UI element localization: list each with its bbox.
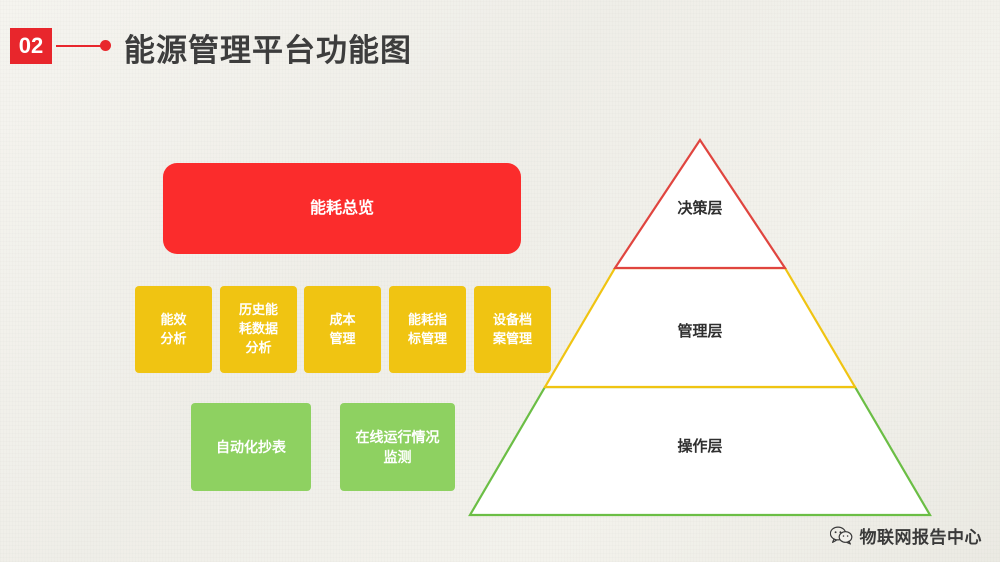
block-label: 成本管理 [329, 311, 355, 349]
pyramid-label-decision: 决策层 [460, 197, 940, 218]
pyramid-diagram: 决策层 管理层 操作层 [460, 130, 940, 525]
pyramid-label-operation: 操作层 [460, 435, 940, 456]
header-accent-dot [100, 40, 111, 51]
watermark: 物联网报告中心 [830, 523, 983, 548]
block-historical-energy-data-analysis[interactable]: 历史能耗数据分析 [220, 286, 297, 373]
block-energy-indicator-management[interactable]: 能耗指标管理 [389, 286, 466, 373]
pyramid-label-management: 管理层 [460, 320, 940, 341]
slide-canvas: 02 能源管理平台功能图 能耗总览 能效分析 历史能耗数据分析 成本管理 能耗指… [0, 0, 1000, 562]
watermark-text: 物联网报告中心 [860, 523, 983, 548]
page-title: 能源管理平台功能图 [124, 25, 412, 70]
section-number-badge: 02 [10, 28, 52, 64]
header-accent-line [56, 45, 102, 47]
block-online-operation-monitoring[interactable]: 在线运行情况监测 [340, 403, 455, 491]
block-cost-management[interactable]: 成本管理 [304, 286, 381, 373]
block-energy-efficiency-analysis[interactable]: 能效分析 [135, 286, 212, 373]
block-label: 在线运行情况监测 [356, 427, 440, 468]
block-label: 历史能耗数据分析 [239, 301, 278, 358]
block-label: 能效分析 [160, 311, 186, 349]
block-label: 能耗指标管理 [408, 311, 447, 349]
wechat-icon [830, 526, 853, 545]
block-label: 自动化抄表 [216, 437, 286, 457]
block-automatic-meter-reading[interactable]: 自动化抄表 [191, 403, 311, 491]
block-label: 能耗总览 [310, 197, 374, 220]
